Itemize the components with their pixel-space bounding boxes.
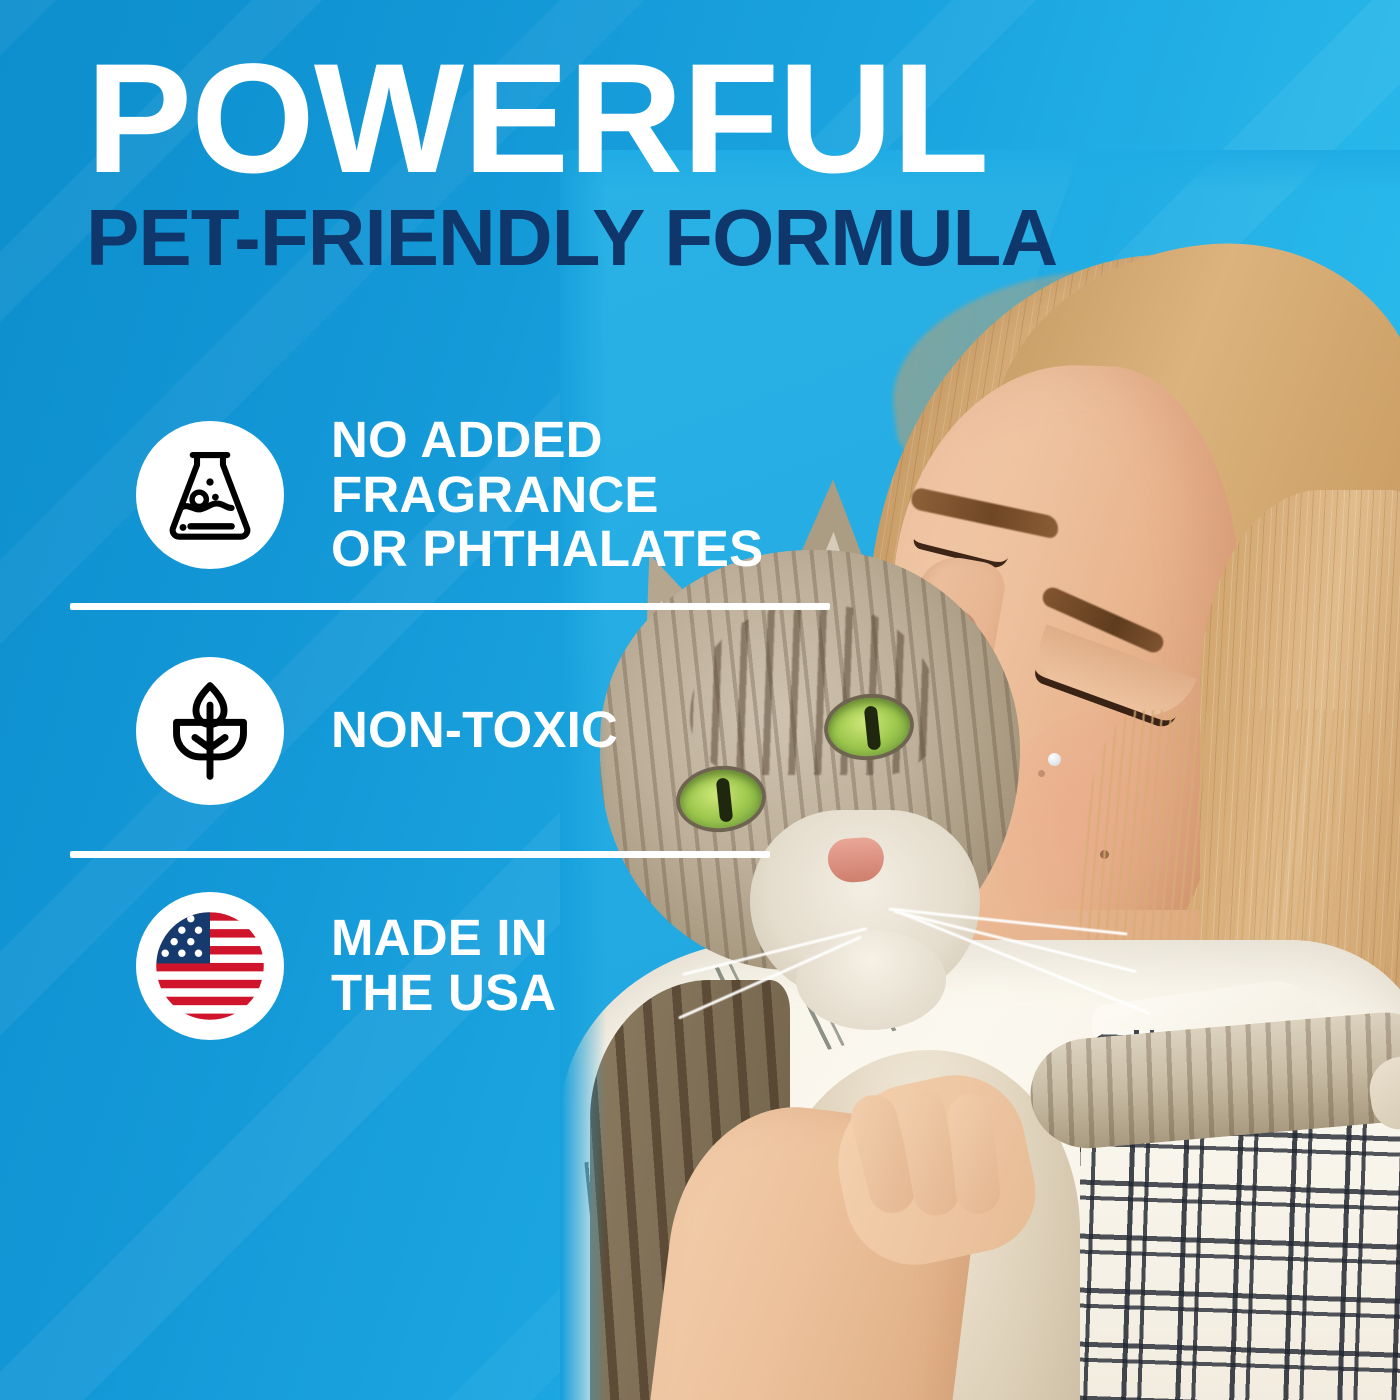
feature-label-line: OR PHTHALATES bbox=[331, 522, 763, 577]
feature-label-line: MADE IN bbox=[331, 911, 556, 966]
headline-secondary: PET-FRIENDLY FORMULA bbox=[86, 201, 1057, 275]
feature-label-nontoxic: NON-TOXIC bbox=[331, 703, 618, 758]
feature-label-line: THE USA bbox=[331, 966, 556, 1021]
feature-label-line: NO ADDED bbox=[331, 413, 763, 468]
usa-flag-icon bbox=[146, 902, 274, 1030]
feature-row-nontoxic: NON-TOXIC bbox=[70, 618, 870, 843]
feature-label-fragrance: NO ADDED FRAGRANCE OR PHTHALATES bbox=[331, 413, 763, 577]
nose-stud bbox=[1048, 753, 1061, 766]
usa-flag-icon-badge bbox=[136, 892, 284, 1040]
feature-label-line: NON-TOXIC bbox=[331, 703, 618, 758]
feature-list: NO ADDED FRAGRANCE OR PHTHALATES bbox=[70, 395, 870, 1066]
plant-leaf-icon-badge bbox=[136, 657, 284, 805]
feature-divider-2 bbox=[70, 851, 770, 858]
flask-icon bbox=[156, 441, 264, 549]
beauty-mark-2 bbox=[1038, 770, 1045, 777]
feature-label-line: FRAGRANCE bbox=[331, 468, 763, 523]
feature-divider-1 bbox=[70, 603, 830, 610]
feature-row-fragrance: NO ADDED FRAGRANCE OR PHTHALATES bbox=[70, 395, 870, 595]
feature-label-usa: MADE IN THE USA bbox=[331, 911, 556, 1020]
feature-row-usa: MADE IN THE USA bbox=[70, 866, 870, 1066]
promo-graphic: POWERFUL PET-FRIENDLY FORMULA bbox=[0, 0, 1400, 1400]
plant-leaf-icon bbox=[156, 677, 264, 785]
headline-primary: POWERFUL bbox=[86, 54, 1077, 185]
headline-block: POWERFUL PET-FRIENDLY FORMULA bbox=[86, 54, 1057, 275]
flask-icon-badge bbox=[136, 421, 284, 569]
